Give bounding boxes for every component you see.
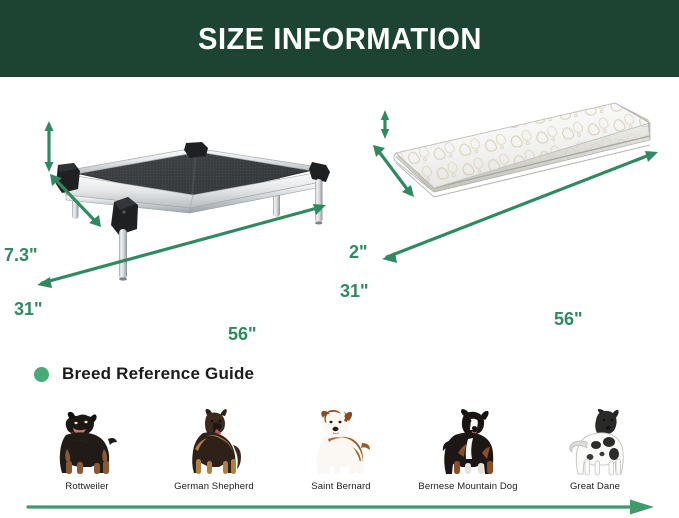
breed-item-great-dane: Great Dane <box>534 400 656 492</box>
breed-label: Bernese Mountain Dog <box>418 481 517 492</box>
german-shepherd-icon <box>158 405 270 477</box>
breed-item-german-shepherd: German Shepherd <box>153 400 275 492</box>
saint-bernard-icon <box>285 405 397 477</box>
breed-item-saint-bernard: Saint Bernard <box>280 400 402 492</box>
elevated-bed-graphic <box>0 77 340 342</box>
bed-leg-front-right <box>315 179 323 225</box>
great-dane-icon <box>539 405 651 477</box>
breed-list: Rottweiler <box>26 400 656 492</box>
breed-label: Great Dane <box>570 481 620 492</box>
mattress-graphic <box>339 77 679 342</box>
product-elevated-bed: 7.3" 31" 56" <box>0 77 340 342</box>
length-arrow-line <box>42 207 321 283</box>
product-mattress: 2" 31" 56" <box>339 77 679 342</box>
mattress-width-label: 31" <box>340 281 369 302</box>
breed-guide-heading-text: Breed Reference Guide <box>62 364 254 384</box>
mattress-height-label: 2" <box>349 242 368 263</box>
breed-label: German Shepherd <box>174 481 254 492</box>
bullet-dot-icon <box>34 367 49 382</box>
page-title: SIZE INFORMATION <box>198 21 482 57</box>
bed-corner-cap-right <box>309 162 330 182</box>
page-header: SIZE INFORMATION <box>0 0 679 77</box>
rottweiler-icon <box>31 405 143 477</box>
bed-width-label: 31" <box>14 299 43 320</box>
bernese-mountain-dog-icon <box>412 405 524 477</box>
size-progression-arrow <box>26 499 656 515</box>
breed-label: Saint Bernard <box>311 481 370 492</box>
breed-item-rottweiler: Rottweiler <box>26 400 148 492</box>
product-illustrations: 7.3" 31" 56" <box>0 77 679 342</box>
bed-leg-front-left <box>119 229 127 281</box>
breed-label: Rottweiler <box>65 481 108 492</box>
breed-item-bernese-mountain-dog: Bernese Mountain Dog <box>407 400 529 492</box>
bed-height-label: 7.3" <box>4 245 38 266</box>
breed-guide-heading: Breed Reference Guide <box>34 364 254 384</box>
mattress-length-label: 56" <box>554 309 583 330</box>
breed-reference-section: Breed Reference Guide <box>0 342 679 518</box>
